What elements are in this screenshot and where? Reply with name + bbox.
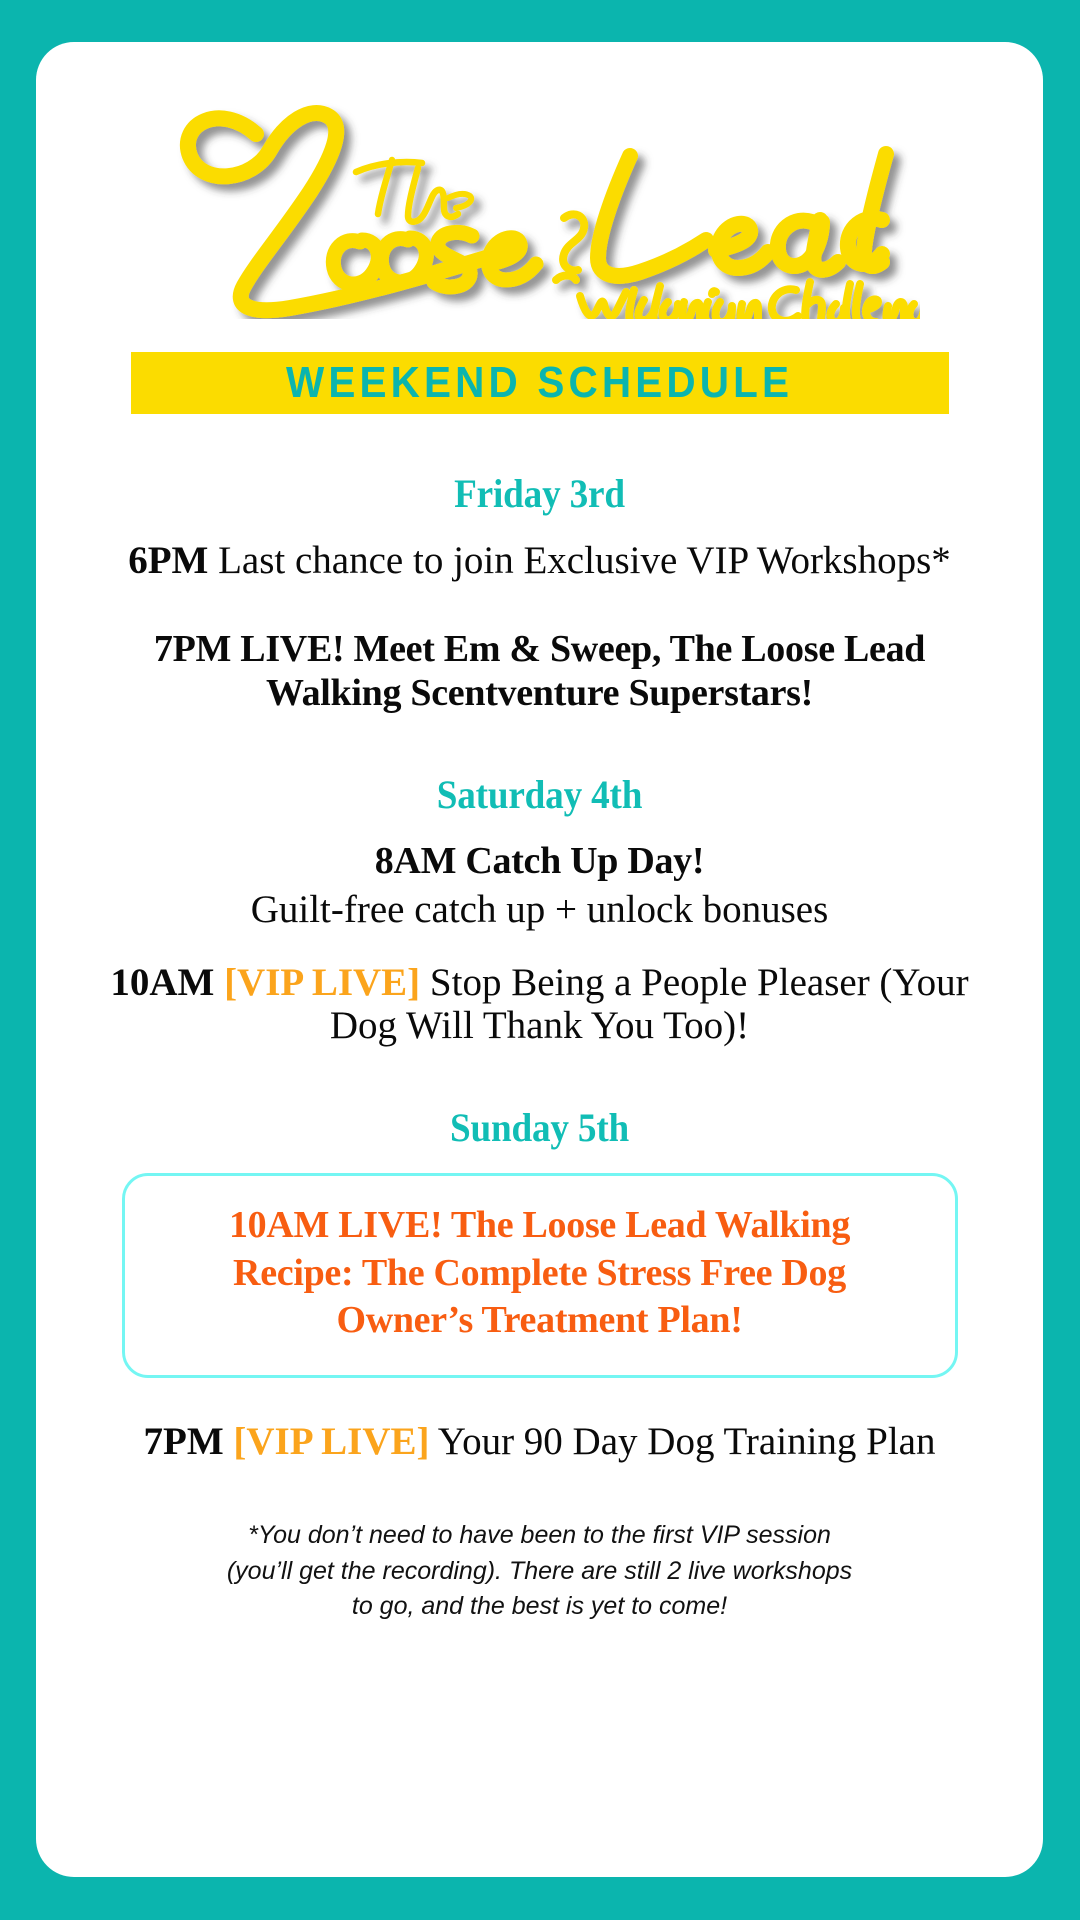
entry-saturday-10am: 10AM [VIP LIVE] Stop Being a People Plea… <box>94 961 985 1048</box>
entry-body-text: Stop Being a People Pleaser (Your Dog Wi… <box>330 961 969 1048</box>
banner-label: WEEKEND SCHEDULE <box>286 358 793 408</box>
footnote-line-3: to go, and the best is yet to come! <box>160 1589 920 1625</box>
schedule-list: Friday 3rd 6PM Last chance to join Exclu… <box>36 470 1043 1625</box>
entry-time-label: 10AM <box>110 961 224 1004</box>
logo-script-artwork <box>160 64 920 319</box>
entry-body-text: Last chance to join Exclusive VIP Worksh… <box>208 539 950 582</box>
footnote-line-2: (you’ll get the recording). There are st… <box>160 1554 920 1590</box>
footnote-line-1: *You don’t need to have been to the firs… <box>160 1518 920 1554</box>
vip-live-badge: [VIP LIVE] <box>233 1420 429 1463</box>
entry-body-text: Your 90 Day Dog Training Plan <box>430 1420 936 1463</box>
entry-friday-7pm: 7PM LIVE! Meet Em & Sweep, The Loose Lea… <box>94 628 985 715</box>
poster-root: The Loose Lead Walking Challenge WEEKEND… <box>0 0 1080 1920</box>
vip-live-badge: [VIP LIVE] <box>224 961 420 1004</box>
weekend-schedule-banner: WEEKEND SCHEDULE <box>131 352 949 414</box>
entry-saturday-8am-subtext: Guilt-free catch up + unlock bonuses <box>94 888 985 933</box>
day-heading-sunday: Sunday 5th <box>125 1104 954 1151</box>
featured-session-box: 10AM LIVE! The Loose Lead Walking Recipe… <box>122 1173 958 1378</box>
poster-card: The Loose Lead Walking Challenge WEEKEND… <box>36 42 1043 1877</box>
day-heading-friday: Friday 3rd <box>125 470 954 517</box>
entry-sunday-7pm: 7PM [VIP LIVE] Your 90 Day Dog Training … <box>94 1420 985 1465</box>
brand-logo: The Loose Lead Walking Challenge <box>36 64 1043 334</box>
footnote-disclaimer: *You don’t need to have been to the firs… <box>160 1518 920 1625</box>
entry-time-label: 6PM <box>128 539 208 582</box>
featured-session-text: 10AM LIVE! The Loose Lead Walking Recipe… <box>165 1202 915 1345</box>
entry-time-label: 7PM <box>144 1420 234 1463</box>
logo-accessible-title: The Loose Lead Walking Challenge <box>36 319 37 320</box>
day-heading-saturday: Saturday 4th <box>125 771 954 818</box>
entry-saturday-8am: 8AM Catch Up Day! <box>94 840 985 884</box>
entry-friday-6pm: 6PM Last chance to join Exclusive VIP Wo… <box>94 539 985 584</box>
